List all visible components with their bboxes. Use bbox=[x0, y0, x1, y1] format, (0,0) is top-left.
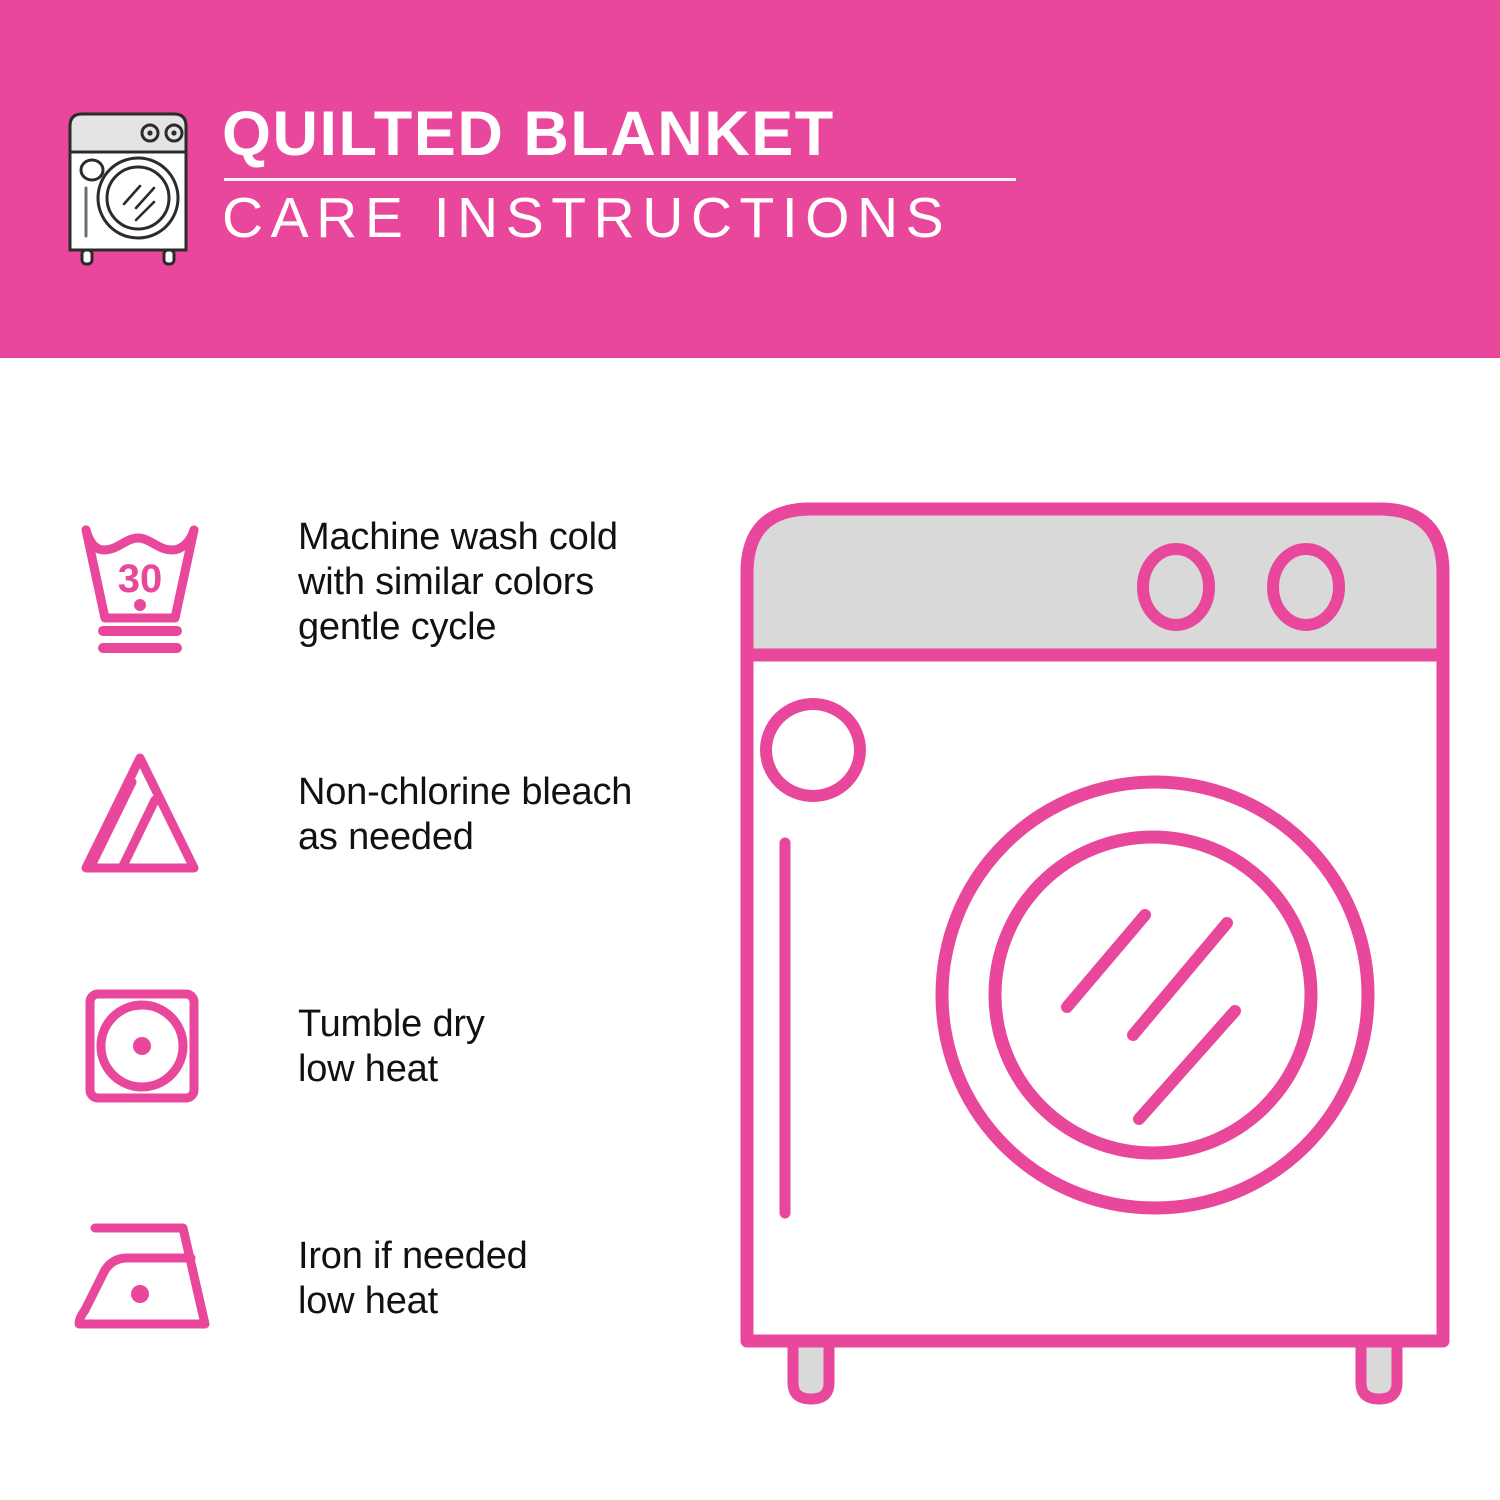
care-line: gentle cycle bbox=[298, 605, 720, 650]
care-symbol-tumble-dry bbox=[60, 972, 250, 1122]
header-banner: QUILTED BLANKET CARE INSTRUCTIONS bbox=[0, 0, 1500, 358]
care-row-iron: Iron if needed low heat bbox=[60, 1191, 720, 1366]
care-text-iron: Iron if needed low heat bbox=[298, 1234, 720, 1324]
front-load-washing-machine-illustration bbox=[735, 495, 1455, 1420]
care-line: Machine wash cold bbox=[298, 515, 720, 560]
care-line: Non-chlorine bleach bbox=[298, 770, 720, 815]
care-symbol-iron bbox=[60, 1214, 250, 1344]
page-title: QUILTED BLANKET bbox=[222, 102, 1022, 168]
care-symbol-bleach bbox=[60, 740, 250, 890]
care-text-tumble-dry: Tumble dry low heat bbox=[298, 1002, 720, 1092]
care-line: as needed bbox=[298, 815, 720, 860]
care-line: Tumble dry bbox=[298, 1002, 720, 1047]
care-line: with similar colors bbox=[298, 560, 720, 605]
non-chlorine-bleach-triangle-icon bbox=[70, 740, 240, 890]
header-divider bbox=[224, 178, 1016, 181]
page-subtitle: CARE INSTRUCTIONS bbox=[222, 189, 1022, 249]
care-row-bleach: Non-chlorine bleach as needed bbox=[60, 727, 720, 902]
detergent-dispenser-icon bbox=[766, 704, 860, 796]
machine-knob-left[interactable] bbox=[1143, 549, 1209, 625]
care-line: low heat bbox=[298, 1047, 720, 1092]
care-line: low heat bbox=[298, 1279, 720, 1324]
care-text-wash: Machine wash cold with similar colors ge… bbox=[298, 515, 720, 649]
care-row-tumble-dry: Tumble dry low heat bbox=[60, 959, 720, 1134]
tumble-dry-low-icon bbox=[70, 972, 240, 1122]
care-instruction-list: 30 Machine wash cold with similar colors… bbox=[60, 495, 720, 1366]
care-line: Iron if needed bbox=[298, 1234, 720, 1279]
care-row-wash: 30 Machine wash cold with similar colors… bbox=[60, 495, 720, 670]
header-text-block: QUILTED BLANKET CARE INSTRUCTIONS bbox=[222, 100, 1022, 248]
care-text-bleach: Non-chlorine bleach as needed bbox=[298, 770, 720, 860]
wash-tub-30-icon: 30 bbox=[70, 508, 240, 658]
washing-machine-icon bbox=[62, 108, 194, 268]
machine-knob-right[interactable] bbox=[1273, 549, 1339, 625]
iron-low-heat-icon bbox=[65, 1214, 245, 1344]
care-instructions-poster: QUILTED BLANKET CARE INSTRUCTIONS 30 bbox=[0, 0, 1500, 1500]
header-content: QUILTED BLANKET CARE INSTRUCTIONS bbox=[62, 100, 1022, 268]
wash-temperature-label: 30 bbox=[118, 557, 163, 601]
care-symbol-wash: 30 bbox=[60, 508, 250, 658]
